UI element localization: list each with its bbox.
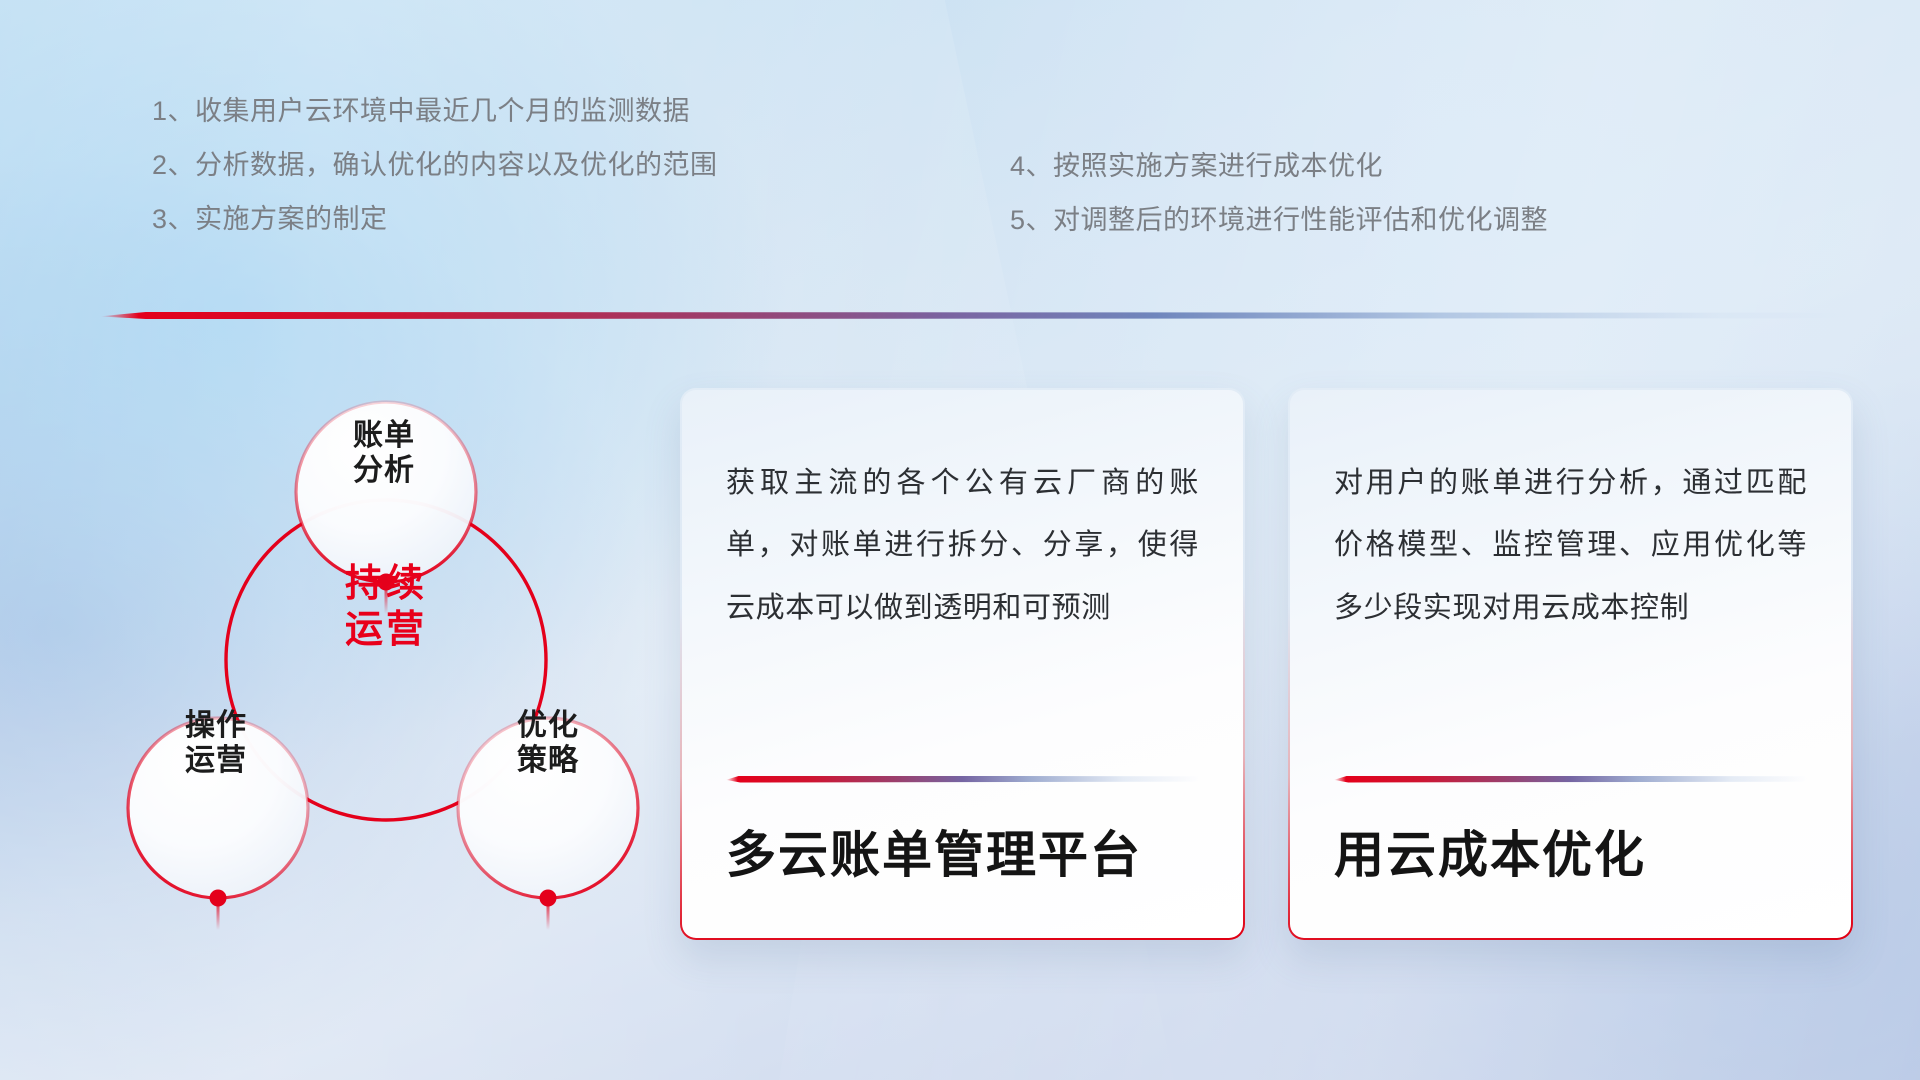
card-description: 获取主流的各个公有云厂商的账单，对账单进行拆分、分享，使得云成本可以做到透明和可…: [726, 452, 1199, 639]
section-divider: [100, 312, 1860, 319]
process-step-2: 2、分析数据，确认优化的内容以及优化的范围: [152, 152, 718, 179]
card-accent-rule: [726, 776, 1199, 783]
process-step-1: 1、收集用户云环境中最近几个月的监测数据: [152, 98, 718, 125]
node-dot-policy: [540, 890, 557, 907]
node-dot-billing: [378, 574, 395, 591]
card-accent-rule: [1334, 776, 1807, 783]
card-description: 对用户的账单进行分析，通过匹配价格模型、监控管理、应用优化等多少段实现对用云成本…: [1334, 452, 1807, 639]
process-step-3: 3、实施方案的制定: [152, 206, 718, 233]
process-step-4: 4、按照实施方案进行成本优化: [1010, 153, 1548, 180]
card-inner: 对用户的账单进行分析，通过匹配价格模型、监控管理、应用优化等多少段实现对用云成本…: [1290, 390, 1851, 938]
slide-canvas: 1、收集用户云环境中最近几个月的监测数据 2、分析数据，确认优化的内容以及优化的…: [0, 0, 1920, 1080]
process-steps-right: 4、按照实施方案进行成本优化 5、对调整后的环境进行性能评估和优化调整: [1010, 153, 1548, 261]
process-step-5: 5、对调整后的环境进行性能评估和优化调整: [1010, 207, 1548, 234]
card-inner: 获取主流的各个公有云厂商的账单，对账单进行拆分、分享，使得云成本可以做到透明和可…: [682, 390, 1243, 938]
divider-gradient-bar: [100, 312, 1860, 319]
bubble-operations: [128, 718, 308, 898]
bubble-optimization-policy: [458, 718, 638, 898]
card-title: 用云成本优化: [1334, 827, 1807, 885]
feature-card-cloud-cost-optimization[interactable]: 对用户的账单进行分析，通过匹配价格模型、监控管理、应用优化等多少段实现对用云成本…: [1288, 388, 1853, 940]
feature-card-multi-cloud-billing[interactable]: 获取主流的各个公有云厂商的账单，对账单进行拆分、分享，使得云成本可以做到透明和可…: [680, 388, 1245, 940]
card-title: 多云账单管理平台: [726, 827, 1199, 885]
node-dot-ops: [210, 890, 227, 907]
process-steps-left: 1、收集用户云环境中最近几个月的监测数据 2、分析数据，确认优化的内容以及优化的…: [152, 98, 718, 260]
bubble-billing-analysis: [296, 402, 476, 582]
continuous-operations-diagram: 账单 分析 操作 运营 优化 策略 持续 运营: [88, 340, 668, 960]
